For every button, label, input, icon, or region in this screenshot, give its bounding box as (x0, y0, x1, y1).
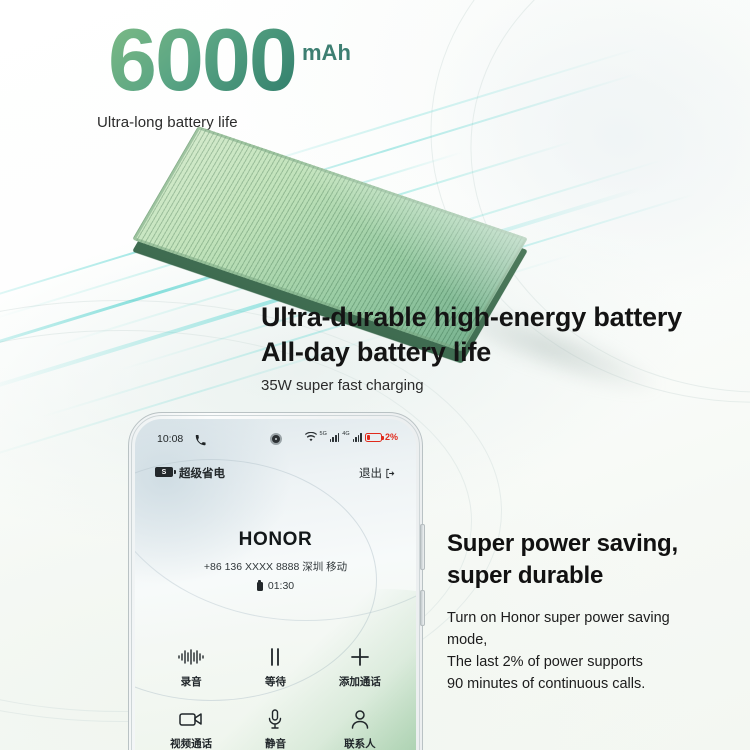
wifi-icon (305, 432, 317, 442)
phone-mockup: 10:08 5G 4G 2% S (128, 412, 423, 750)
add-call-plus-icon (350, 647, 370, 667)
record-waveform-icon (178, 647, 204, 667)
caller-info: HONOR +86 136 XXXX 8888 深圳 移动 01:30 (135, 529, 416, 592)
call-action-mute[interactable]: 静音 (233, 709, 317, 750)
exit-arrow-icon (385, 468, 396, 479)
call-action-label: 等待 (265, 674, 286, 689)
capacity-number: 6000 (108, 16, 296, 104)
phone-screen: 10:08 5G 4G 2% S (135, 419, 416, 750)
caller-name: HONOR (135, 529, 416, 551)
main-headline: Ultra-durable high-energy battery All-da… (261, 300, 741, 369)
call-action-contacts[interactable]: 联系人 (318, 709, 402, 750)
power-saving-label: 超级省电 (179, 465, 225, 481)
call-duration: 01:30 (268, 580, 294, 592)
phone-handset-icon (195, 433, 206, 451)
sim1-network-label: 5G (320, 431, 327, 437)
mute-microphone-icon (268, 709, 282, 729)
phone-power-button[interactable] (420, 590, 425, 626)
caller-number: +86 136 XXXX 8888 深圳 移动 (135, 559, 416, 574)
right-body-line-2: mode, (447, 632, 487, 648)
phone-volume-button[interactable] (420, 524, 425, 570)
capacity-unit: mAh (302, 40, 351, 66)
hold-pause-icon (267, 647, 283, 667)
call-action-label: 联系人 (344, 736, 376, 750)
call-action-label: 添加通话 (339, 674, 381, 689)
power-saving-badge-letter: S (162, 469, 167, 476)
battery-percent-label: 2% (385, 432, 398, 442)
call-action-video-call[interactable]: 视频通话 (149, 709, 233, 750)
hero-subtitle: Ultra-long battery life (97, 114, 238, 131)
battery-low-icon (365, 433, 382, 442)
headline-subtitle: 35W super fast charging (261, 377, 424, 394)
call-action-add-call[interactable]: 添加通话 (318, 647, 402, 689)
status-time: 10:08 (157, 433, 183, 445)
call-action-hold[interactable]: 等待 (233, 647, 317, 689)
right-heading: Super power saving, super durable (447, 528, 747, 591)
right-heading-line-1: Super power saving, (447, 530, 678, 557)
call-duration-row: 01:30 (135, 580, 416, 592)
right-body-line-1: Turn on Honor super power saving (447, 610, 670, 626)
call-actions-grid: 录音 等待 添加通话 (149, 647, 402, 750)
right-body-line-4: 90 minutes of continuous calls. (447, 676, 645, 692)
call-action-label: 视频通话 (170, 736, 212, 750)
exit-button[interactable]: 退出 (359, 465, 396, 481)
right-body-line-3: The last 2% of power supports (447, 654, 643, 670)
sim2-network-label: 4G (342, 431, 349, 437)
front-camera-punchhole-icon (270, 433, 282, 445)
status-bar: 10:08 5G 4G 2% (135, 433, 416, 449)
call-action-record[interactable]: 录音 (149, 647, 233, 689)
headline-line-2: All-day battery life (261, 335, 741, 370)
contacts-person-icon (350, 709, 370, 729)
headline-line-1: Ultra-durable high-energy battery (261, 302, 682, 332)
sim-card-icon (257, 582, 263, 591)
call-action-label: 录音 (181, 674, 202, 689)
power-saving-bar: S 超级省电 退出 (135, 465, 416, 483)
right-body: Turn on Honor super power saving mode, T… (447, 607, 747, 695)
call-action-label: 静音 (265, 736, 286, 750)
video-call-icon (179, 709, 203, 729)
exit-label: 退出 (359, 465, 382, 481)
sim1-signal-icon (330, 433, 339, 442)
status-indicators: 5G 4G 2% (305, 432, 398, 442)
right-heading-line-2: super durable (447, 562, 603, 589)
power-saving-badge-icon: S (155, 467, 173, 477)
promo-banner: 6000 mAh Ultra-long battery life Ultra-d… (0, 0, 750, 750)
sim2-signal-icon (353, 433, 362, 442)
